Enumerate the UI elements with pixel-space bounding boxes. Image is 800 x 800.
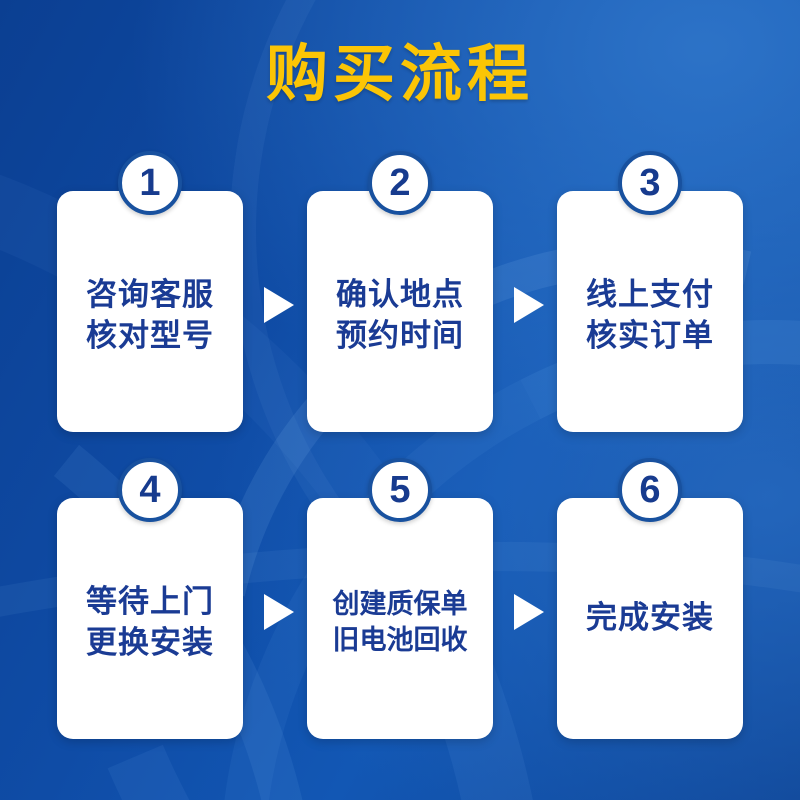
- arrow-right-icon: [514, 594, 544, 630]
- process-step-2[interactable]: 确认地点 预约时间 2: [307, 191, 493, 432]
- step-number-badge: 3: [618, 151, 682, 215]
- step-label: 确认地点 预约时间: [332, 275, 468, 356]
- purchase-process-poster: 购买流程 咨询客服 核对型号 1 确认地点 预约时间 2 线上支付 核实订单 3…: [0, 0, 800, 800]
- step-card[interactable]: 等待上门 更换安装: [57, 498, 243, 739]
- step-card[interactable]: 创建质保单 旧电池回收: [307, 498, 493, 739]
- process-step-6[interactable]: 完成安装 6: [557, 498, 743, 739]
- step-card[interactable]: 线上支付 核实订单: [557, 191, 743, 432]
- process-step-3[interactable]: 线上支付 核实订单 3: [557, 191, 743, 432]
- arrow-right-icon: [264, 594, 294, 630]
- step-label: 创建质保单 旧电池回收: [329, 587, 472, 657]
- arrow-right-icon: [514, 287, 544, 323]
- step-label: 线上支付 核实订单: [582, 275, 718, 356]
- step-label: 完成安装: [582, 598, 718, 638]
- process-step-5[interactable]: 创建质保单 旧电池回收 5: [307, 498, 493, 739]
- step-label: 等待上门 更换安装: [82, 582, 218, 663]
- step-card[interactable]: 咨询客服 核对型号: [57, 191, 243, 432]
- process-steps-grid: 咨询客服 核对型号 1 确认地点 预约时间 2 线上支付 核实订单 3 等待上门…: [0, 0, 800, 800]
- step-number-badge: 4: [118, 458, 182, 522]
- step-number-badge: 5: [368, 458, 432, 522]
- process-step-4[interactable]: 等待上门 更换安装 4: [57, 498, 243, 739]
- page-title: 购买流程: [0, 44, 800, 106]
- arrow-right-icon: [264, 287, 294, 323]
- step-card[interactable]: 确认地点 预约时间: [307, 191, 493, 432]
- step-number-badge: 6: [618, 458, 682, 522]
- step-number-badge: 2: [368, 151, 432, 215]
- process-step-1[interactable]: 咨询客服 核对型号 1: [57, 191, 243, 432]
- step-label: 咨询客服 核对型号: [82, 275, 218, 356]
- step-number-badge: 1: [118, 151, 182, 215]
- step-card[interactable]: 完成安装: [557, 498, 743, 739]
